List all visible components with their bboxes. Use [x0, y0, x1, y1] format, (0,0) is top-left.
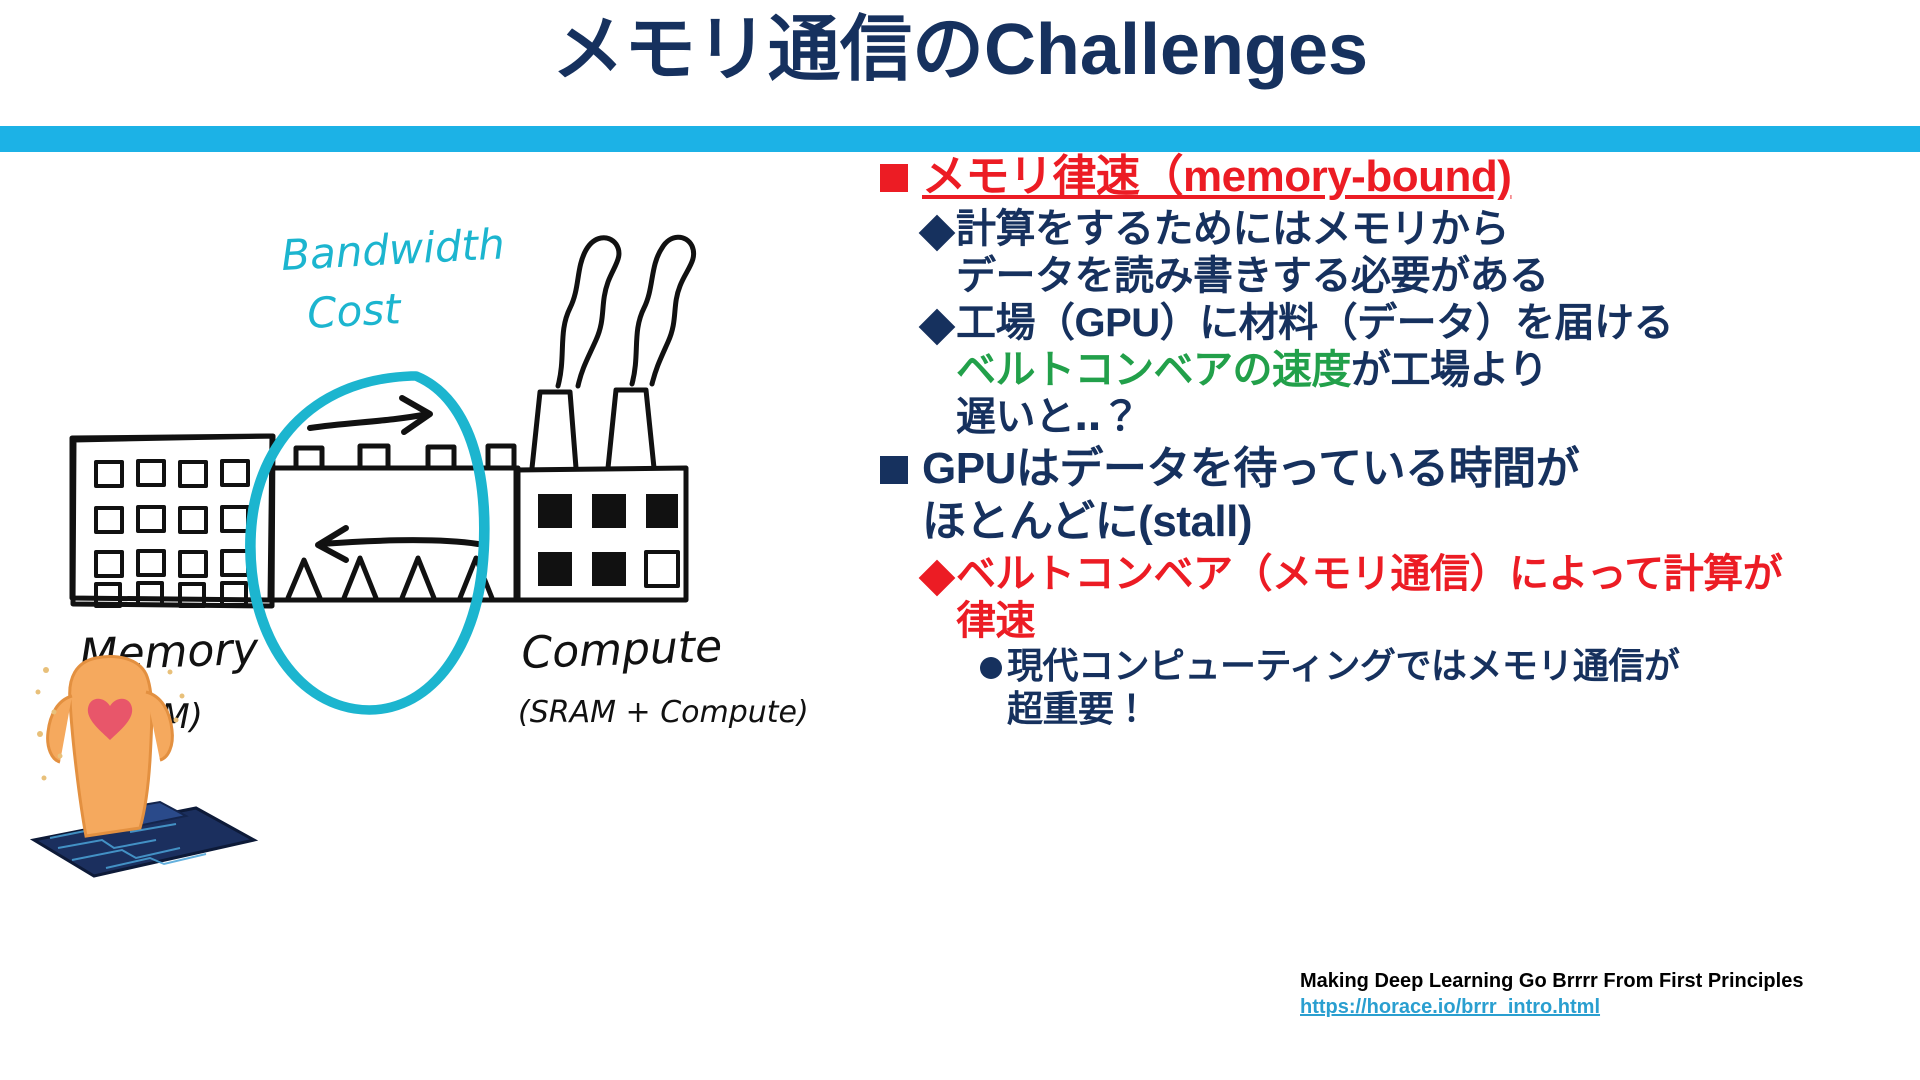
square-bullet-icon [880, 456, 908, 484]
highlight-conveyor-speed: ベルトコンベアの速度 [956, 348, 1351, 392]
line-2: ほとんどに(stall) [922, 497, 1252, 546]
svg-text:Cost: Cost [306, 284, 403, 338]
line-3: 遅いと‥？ [956, 395, 1140, 439]
title-area: メモリ通信のChallenges [0, 0, 1920, 132]
bullet-memory-critical: 現代コンピューティングではメモリ通信が 超重要！ [980, 645, 1920, 730]
citation-link[interactable]: https://horace.io/brrr_intro.html [1300, 994, 1600, 1020]
bullet-memory-bound-label: メモリ律速（memory-bound) [922, 150, 1511, 204]
line-1: 工場（GPU）に材料（データ）を届ける [956, 301, 1673, 345]
bullet-list: メモリ律速（memory-bound) 計算をするためにはメモリから データを読… [880, 150, 1920, 950]
line-1: 計算をするためにはメモリから [956, 207, 1509, 251]
svg-text:(SRAM + Compute): (SRAM + Compute) [518, 695, 809, 730]
bullet-compute-needs-memory-label: 計算をするためにはメモリから データを読み書きする必要がある [956, 206, 1549, 300]
memory-compute-diagram: Bandwidth Cost Memory (DRAM) Compute (SR… [10, 200, 890, 1070]
line-2: 律速 [956, 599, 1035, 643]
circle-bullet-icon [980, 657, 1002, 679]
compute-label-group: Compute (SRAM + Compute) [518, 621, 809, 730]
bullet-memory-traffic-bound: ベルトコンベア（メモリ通信）によって計算が 律速 [924, 551, 1920, 645]
arrow-left [318, 528, 478, 560]
citation-title: Making Deep Learning Go Brrrr From First… [1300, 968, 1910, 994]
bullet-memory-critical-label: 現代コンピューティングではメモリ通信が 超重要！ [1007, 645, 1679, 730]
diamond-bullet-icon [919, 309, 956, 346]
line-2: 超重要！ [1007, 688, 1149, 729]
bullet-memory-traffic-bound-label: ベルトコンベア（メモリ通信）によって計算が 律速 [956, 551, 1782, 645]
line-2-tail: が工場より [1351, 348, 1548, 392]
bullet-gpu-stall-label: GPUはデータを待っている時間が ほとんどに(stall) [922, 442, 1579, 549]
bullet-conveyor-speed-label: 工場（GPU）に材料（データ）を届ける ベルトコンベアの速度が工場より 遅いと‥… [956, 300, 1673, 442]
compute-factory [516, 237, 694, 600]
bullet-compute-needs-memory: 計算をするためにはメモリから データを読み書きする必要がある [924, 206, 1920, 300]
memory-building [72, 436, 273, 606]
line-1: GPUはデータを待っている時間が [922, 444, 1579, 493]
page-title: メモリ通信のChallenges [0, 10, 1920, 91]
bullet-memory-bound: メモリ律速（memory-bound) [880, 150, 1920, 204]
diamond-bullet-icon [919, 214, 956, 251]
line-1: ベルトコンベア（メモリ通信）によって計算が [956, 552, 1782, 596]
diamond-bullet-icon [919, 560, 956, 597]
chip-character [34, 657, 254, 876]
svg-text:Bandwidth: Bandwidth [280, 219, 506, 280]
source-citation: Making Deep Learning Go Brrrr From First… [1300, 968, 1910, 1020]
bandwidth-cost-label: Bandwidth Cost [280, 219, 506, 338]
line-2: データを読み書きする必要がある [956, 254, 1549, 298]
bullet-gpu-stall: GPUはデータを待っている時間が ほとんどに(stall) [880, 442, 1920, 549]
svg-text:Compute: Compute [521, 621, 723, 679]
title-accent-bar [0, 126, 1920, 152]
square-bullet-icon [880, 164, 908, 192]
bullet-conveyor-speed: 工場（GPU）に材料（データ）を届ける ベルトコンベアの速度が工場より 遅いと‥… [924, 300, 1920, 442]
line-1: 現代コンピューティングではメモリ通信が [1007, 645, 1679, 686]
